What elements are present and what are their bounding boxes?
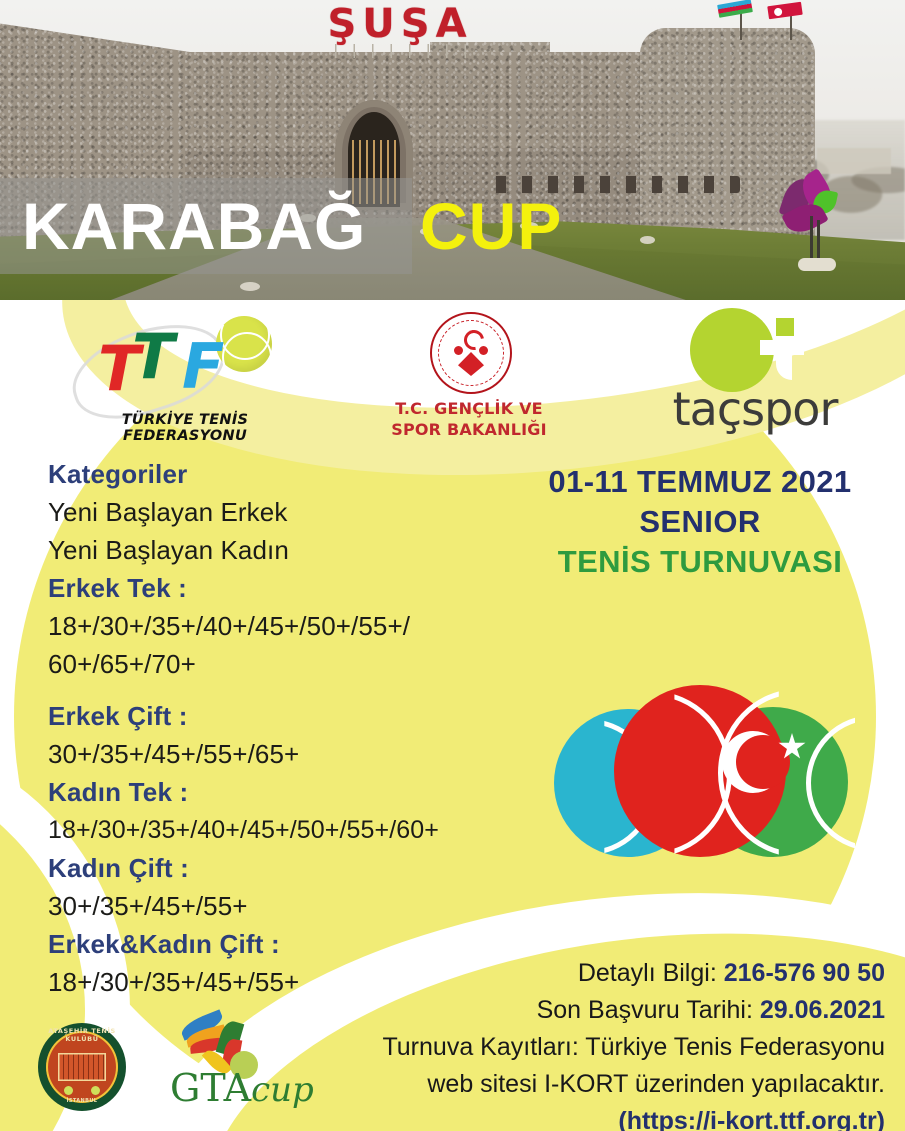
- tennis-ball-icon: [216, 316, 272, 372]
- pinwheel-sculpture: [780, 172, 852, 264]
- tacspor-logo: taçspor: [640, 308, 870, 444]
- tennis-court-icon: [58, 1053, 106, 1081]
- ministry-logo: T.C. GENÇLİK VE SPOR BAKANLIĞI: [378, 312, 560, 444]
- figure-dot: [479, 346, 488, 355]
- gta-suffix: cup: [251, 1070, 314, 1110]
- category-beginner-men: Yeni Başlayan Erkek: [48, 493, 518, 531]
- contact-deadline-row: Son Başvuru Tarihi: 29.06.2021: [320, 992, 885, 1029]
- club-name-top: ATAŞEHİR TENİS KULÜBÜ: [38, 1027, 126, 1043]
- category-values-mens-singles-2: 60+/65+/70+: [48, 645, 518, 683]
- crescent-icon: [722, 731, 784, 793]
- tacspor-mark-icon: [690, 308, 774, 392]
- category-values-mens-singles-1: 18+/30+/35+/40+/45+/50+/55+/: [48, 607, 518, 645]
- header-photo: ŞUŞA KARABAĞ CUP: [0, 0, 905, 300]
- category-label-mens-doubles: Erkek Çift :: [48, 697, 518, 735]
- deadline-label: Son Başvuru Tarihi:: [537, 996, 753, 1024]
- rubble: [640, 236, 655, 244]
- registration-line-1: Turnuva Kayıtları: Türkiye Tenis Federas…: [320, 1029, 885, 1066]
- poster-title: KARABAĞ: [22, 190, 366, 262]
- categories-block: Kategoriler Yeni Başlayan Erkek Yeni Baş…: [48, 455, 518, 1001]
- contact-info-label: Detaylı Bilgi:: [578, 959, 717, 987]
- contact-phone: 216-576 90 50: [724, 959, 885, 987]
- event-dates: 01-11 TEMMUZ 2021: [510, 462, 890, 502]
- event-level: SENIOR: [510, 502, 890, 542]
- ttf-letter-t2: T: [132, 326, 174, 388]
- gta-main: GTA: [170, 1066, 251, 1110]
- category-label-womens-doubles: Kadın Çift :: [48, 849, 518, 887]
- category-values-womens-doubles: 30+/35+/45+/55+: [48, 887, 518, 925]
- rubble: [240, 282, 260, 291]
- tennis-balls-graphic: [548, 685, 878, 885]
- category-label-mens-singles: Erkek Tek :: [48, 569, 518, 607]
- category-values-womens-singles: 18+/30+/35+/40+/45+/50+/55+/60+: [48, 811, 518, 849]
- background-building: [817, 148, 891, 174]
- gta-cup-logo: GTAcup: [170, 1015, 340, 1120]
- contact-block: Detaylı Bilgi: 216-576 90 50 Son Başvuru…: [320, 955, 885, 1131]
- ministry-figure-icon: [454, 330, 488, 376]
- figure-dot: [454, 346, 463, 355]
- gta-cup-text: GTAcup: [170, 1065, 340, 1113]
- ministry-line-1: T.C. GENÇLİK VE: [395, 399, 543, 418]
- ministry-logo-text: T.C. GENÇLİK VE SPOR BAKANLIĞI: [378, 398, 560, 440]
- tennis-ball-icon: [91, 1086, 100, 1095]
- event-type: TENİS TURNUVASI: [510, 542, 890, 582]
- tacspor-t-notch: [776, 318, 794, 336]
- ttf-logo: T T F TÜRKİYE TENİS FEDERASYONU: [70, 314, 300, 444]
- contact-info-row: Detaylı Bilgi: 216-576 90 50: [320, 955, 885, 992]
- event-heading-block: 01-11 TEMMUZ 2021 SENIOR TENİS TURNUVASI: [510, 462, 890, 582]
- tacspor-t-bar: [760, 340, 804, 355]
- category-beginner-women: Yeni Başlayan Kadın: [48, 531, 518, 569]
- tennis-ball-icon: [64, 1086, 73, 1095]
- registration-line-2: web sitesi I-KORT üzerinden yapılacaktır…: [320, 1066, 885, 1103]
- susa-sign-supports: [318, 44, 483, 58]
- club-name-bottom: İSTANBUL: [38, 1098, 126, 1104]
- tacspor-logo-name: taçspor: [640, 382, 870, 436]
- tournament-poster: ŞUŞA KARABAĞ CUP T: [0, 0, 905, 1131]
- deadline-date: 29.06.2021: [760, 996, 885, 1024]
- pinwheel-stem: [810, 216, 813, 264]
- poster-body: T T F TÜRKİYE TENİS FEDERASYONU T.C. GEN…: [0, 300, 905, 1131]
- ministry-line-2: SPOR BAKANLIĞI: [391, 420, 547, 439]
- category-label-womens-singles: Kadın Tek :: [48, 773, 518, 811]
- ball-seam: [806, 715, 905, 851]
- category-values-mens-doubles: 30+/35+/45+/55+/65+: [48, 735, 518, 773]
- poster-title-accent: CUP: [420, 190, 562, 262]
- ministry-emblem-icon: [430, 312, 512, 394]
- susa-sign-text: ŞUŞA: [310, 2, 490, 46]
- tennis-ball-red-turkish-flag: [614, 685, 786, 857]
- categories-heading: Kategoriler: [48, 455, 518, 493]
- ttf-letter-f: F: [182, 336, 224, 398]
- figure-body: [458, 352, 484, 376]
- atasehir-tennis-club-logo: ATAŞEHİR TENİS KULÜBÜ İSTANBUL: [38, 1023, 126, 1111]
- sponsor-logo-row: T T F TÜRKİYE TENİS FEDERASYONU T.C. GEN…: [0, 300, 905, 445]
- registration-url[interactable]: (https://i-kort.ttf.org.tr): [320, 1103, 885, 1131]
- ttf-logo-name: TÜRKİYE TENİS FEDERASYONU: [70, 412, 300, 444]
- pinwheel-base: [798, 258, 836, 271]
